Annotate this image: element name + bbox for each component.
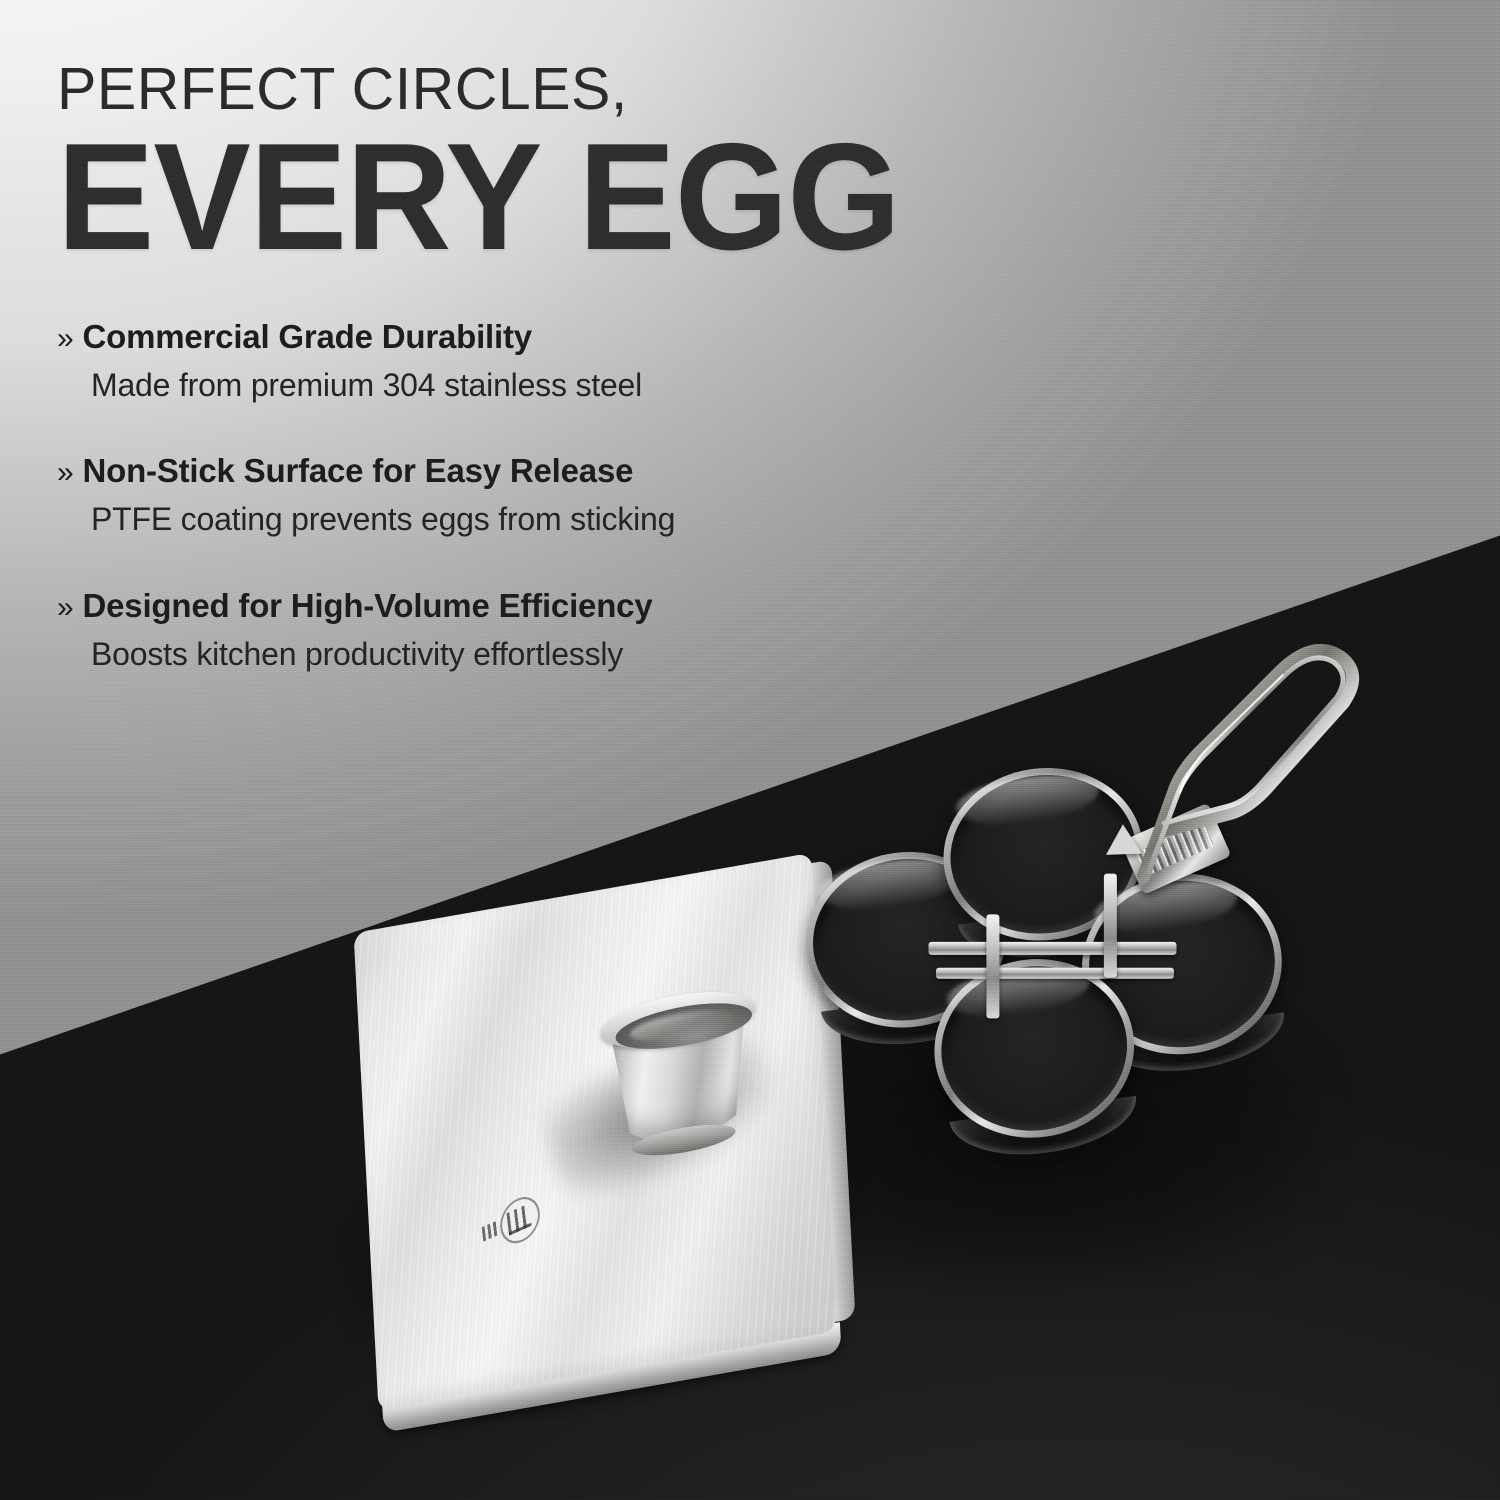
double-chevron-icon: »	[57, 593, 74, 623]
feature-title: Non-Stick Surface for Easy Release	[83, 452, 634, 491]
feature-list: » Commercial Grade Durability Made from …	[57, 318, 917, 673]
double-chevron-icon: »	[57, 324, 74, 354]
feature-item: » Designed for High-Volume Efficiency Bo…	[57, 587, 917, 673]
feature-title: Commercial Grade Durability	[83, 318, 532, 357]
feature-heading-row: » Designed for High-Volume Efficiency	[57, 587, 917, 626]
double-chevron-icon: »	[57, 458, 74, 488]
feature-item: » Non-Stick Surface for Easy Release PTF…	[57, 452, 917, 538]
feature-heading-row: » Non-Stick Surface for Easy Release	[57, 452, 917, 491]
headline-line-2: EVERY EGG	[57, 132, 900, 263]
headline-block: PERFECT CIRCLES, EVERY EGG	[57, 60, 935, 263]
headline-line-1: PERFECT CIRCLES,	[57, 60, 935, 119]
feature-heading-row: » Commercial Grade Durability	[57, 318, 917, 357]
feature-item: » Commercial Grade Durability Made from …	[57, 318, 917, 404]
feature-subtitle: Made from premium 304 stainless steel	[91, 366, 917, 404]
infographic-canvas: PERFECT CIRCLES, EVERY EGG » Commercial …	[0, 0, 1500, 1500]
feature-subtitle: PTFE coating prevents eggs from sticking	[91, 500, 917, 538]
feature-subtitle: Boosts kitchen productivity effortlessly	[91, 635, 917, 673]
feature-title: Designed for High-Volume Efficiency	[83, 587, 653, 626]
